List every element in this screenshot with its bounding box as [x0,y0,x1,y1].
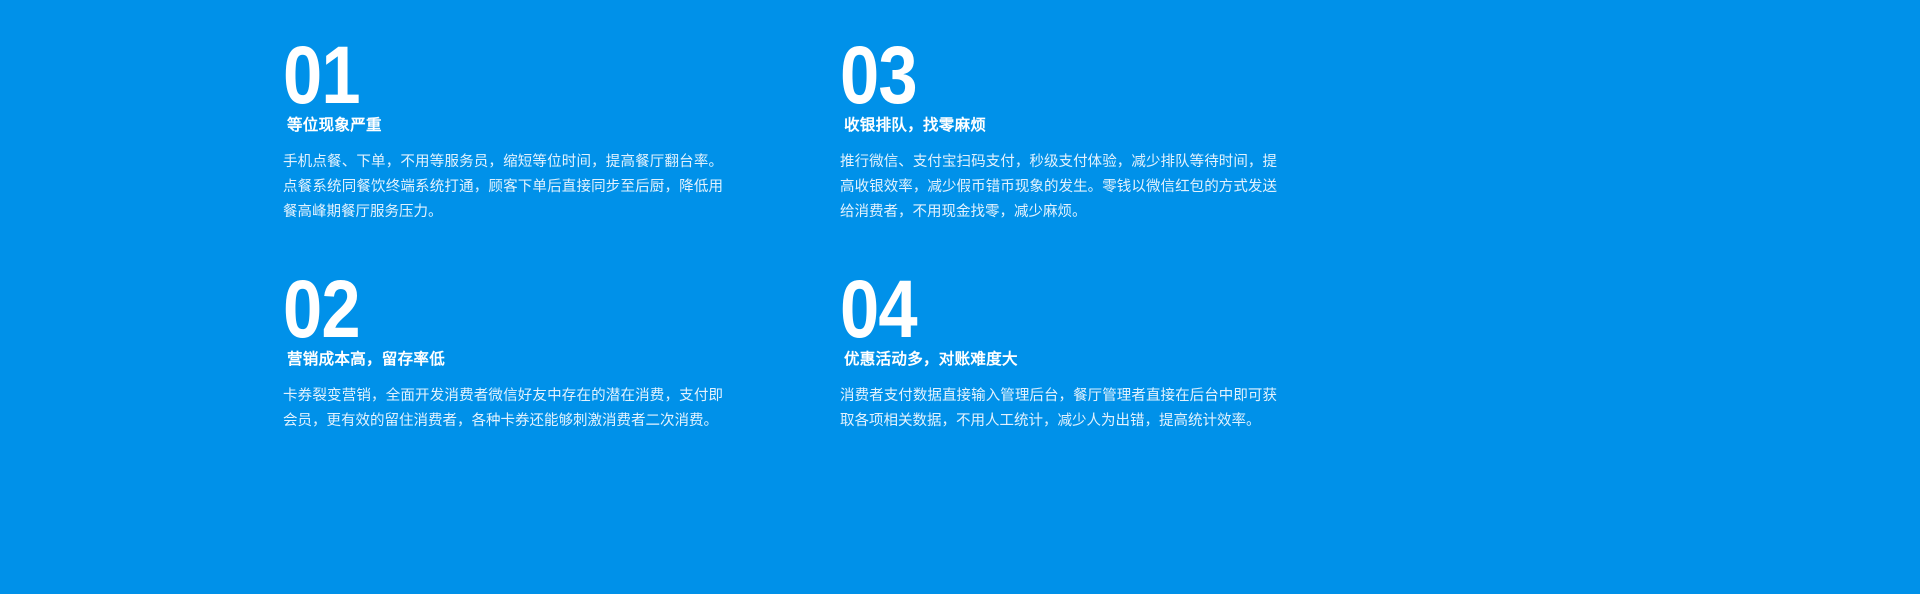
feature-body-04: 消费者支付数据直接输入管理后台，餐厅管理者直接在后台中即可获取各项相关数据，不用… [840,384,1277,434]
feature-number-03: 03 [840,38,1270,116]
feature-grid: 01 等位现象严重 手机点餐、下单，不用等服务员，缩短等位时间，提高餐厅翻台率。… [0,0,1920,594]
feature-number-04: 04 [840,272,1270,350]
feature-number-02: 02 [283,272,713,350]
feature-number-01: 01 [283,38,713,116]
feature-item-03: 03 收银排队，找零麻烦 推行微信、支付宝扫码支付，秒级支付体验，减少排队等待时… [840,38,1340,225]
feature-body-01: 手机点餐、下单，不用等服务员，缩短等位时间，提高餐厅翻台率。点餐系统同餐饮终端系… [283,150,723,225]
feature-body-02: 卡券裂变营销，全面开发消费者微信好友中存在的潜在消费，支付即会员，更有效的留住消… [283,384,723,434]
feature-item-04: 04 优惠活动多，对账难度大 消费者支付数据直接输入管理后台，餐厅管理者直接在后… [840,272,1340,434]
feature-list-panel: 01 等位现象严重 手机点餐、下单，不用等服务员，缩短等位时间，提高餐厅翻台率。… [0,0,1920,594]
feature-item-02: 02 营销成本高，留存率低 卡券裂变营销，全面开发消费者微信好友中存在的潜在消费… [283,272,783,434]
feature-body-03: 推行微信、支付宝扫码支付，秒级支付体验，减少排队等待时间，提高收银效率，减少假币… [840,150,1277,225]
feature-item-01: 01 等位现象严重 手机点餐、下单，不用等服务员，缩短等位时间，提高餐厅翻台率。… [283,38,783,225]
